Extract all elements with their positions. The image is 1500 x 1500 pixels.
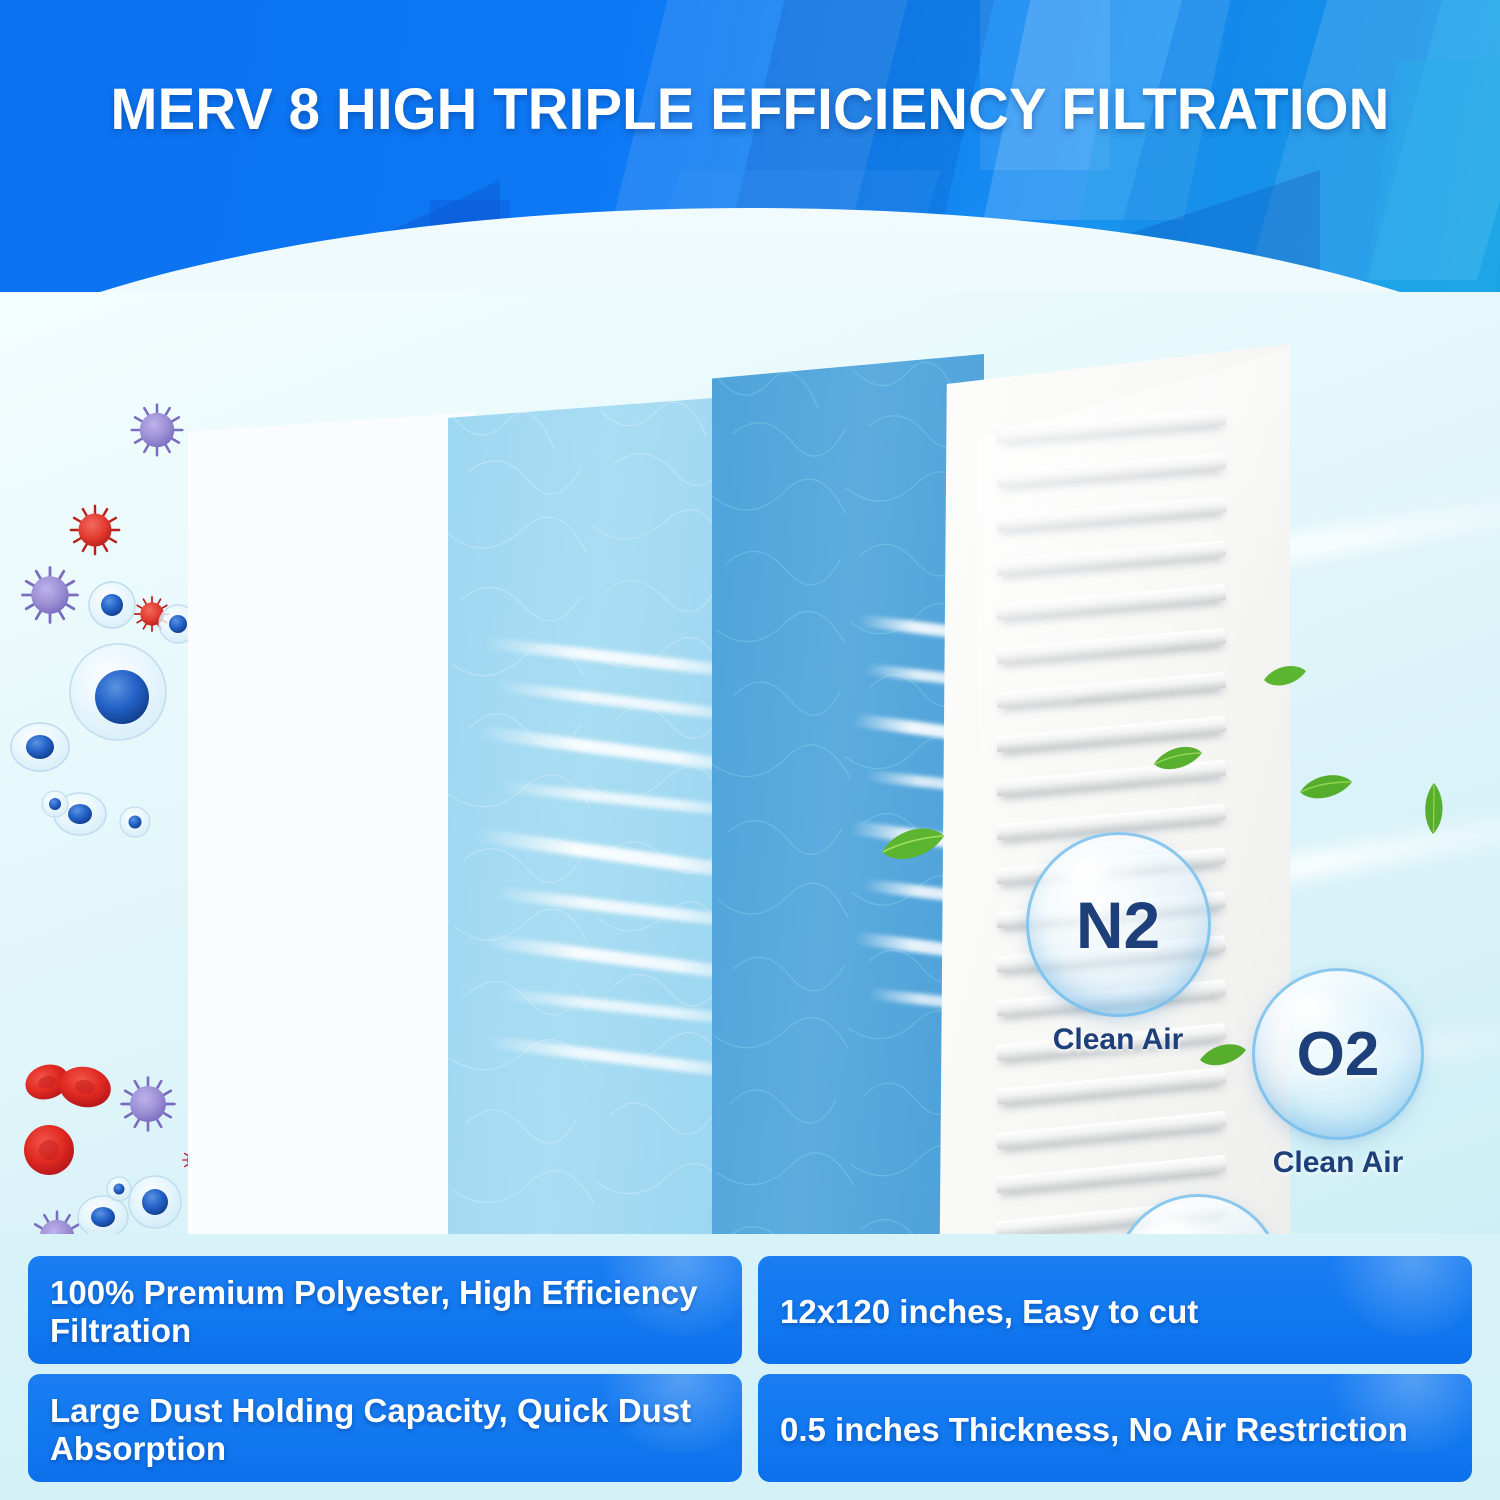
feature-box-thickness: 0.5 inches Thickness, No Air Restriction [758,1374,1472,1482]
feature-text: 12x120 inches, Easy to cut [780,1293,1198,1331]
feature-highlights: 100% Premium Polyester, High Efficiency … [0,1234,1500,1500]
vent-louver [996,409,1227,443]
bubble-caption: Clean Air [1018,1023,1218,1057]
blood-cell [24,1125,74,1175]
leaf-icon [1152,742,1204,776]
bubble-o2: O2 Clean Air [1238,968,1438,1180]
vent-louver [996,540,1227,576]
virus-particle [23,568,78,623]
feature-box-dust: Large Dust Holding Capacity, Quick Dust … [28,1374,742,1482]
virus-particle [122,1078,175,1131]
bubble-sphere: Ar [1114,1194,1282,1234]
feature-box-size: 12x120 inches, Easy to cut [758,1256,1472,1364]
bacteria-cell [89,582,135,628]
feature-text: Large Dust Holding Capacity, Quick Dust … [50,1392,722,1469]
leaf-icon [1420,782,1448,836]
leaf-icon [1262,662,1308,692]
vent-louver [996,584,1227,620]
vent-louver [996,628,1227,664]
filter-layer-white [188,412,474,1234]
fiber-texture-white [188,412,474,1234]
feature-grid: 100% Premium Polyester, High Efficiency … [28,1256,1472,1482]
bacteria-cell [42,791,68,817]
bacteria-cell [120,807,150,837]
bubble-caption: Clean Air [1238,1146,1438,1180]
virus-particle-red [71,506,119,554]
bubble-sphere: N2 [1026,832,1211,1017]
box-glow [1322,1256,1472,1336]
vent-louver [996,496,1227,531]
vent-louver [996,1067,1226,1105]
bacteria-cell [78,1196,128,1234]
vent-louver [996,453,1227,488]
bacteria-cell [107,1177,131,1201]
vent-louver [996,1111,1226,1149]
bubble-ar: Ar Clean Air [1098,1194,1298,1234]
feature-text: 100% Premium Polyester, High Efficiency … [50,1274,722,1351]
bubble-sphere: O2 [1252,968,1424,1140]
bubble-symbol: O2 [1297,1019,1380,1090]
bacteria-cell [70,644,166,740]
fiber-texture-light-blue [448,396,740,1234]
feature-box-polyester: 100% Premium Polyester, High Efficiency … [28,1256,742,1364]
product-illustration: N2 Clean Air O2 Clean Air Ar Clean Air [0,292,1500,1234]
vent-louver [996,1155,1226,1193]
feature-text: 0.5 inches Thickness, No Air Restriction [780,1411,1408,1449]
filter-layer-light-blue [448,396,740,1234]
bacteria-cell [129,1176,181,1228]
banner-title: MERV 8 HIGH TRIPLE EFFICIENCY FILTRATION [23,76,1478,143]
vent-louvers [996,418,1226,1218]
leaf-icon [1298,772,1354,806]
bubble-symbol: N2 [1076,887,1160,963]
virus-particle [32,1212,83,1234]
banner-bottom-curve [0,208,1500,292]
bubble-n2: N2 Clean Air [1018,832,1218,1057]
virus-particle [132,405,183,456]
leaf-icon [880,822,946,866]
header-banner: MERV 8 HIGH TRIPLE EFFICIENCY FILTRATION [0,0,1500,292]
bacteria-cell [11,723,69,771]
vent-louver [996,672,1227,708]
product-infographic: MERV 8 HIGH TRIPLE EFFICIENCY FILTRATION [0,0,1500,1500]
